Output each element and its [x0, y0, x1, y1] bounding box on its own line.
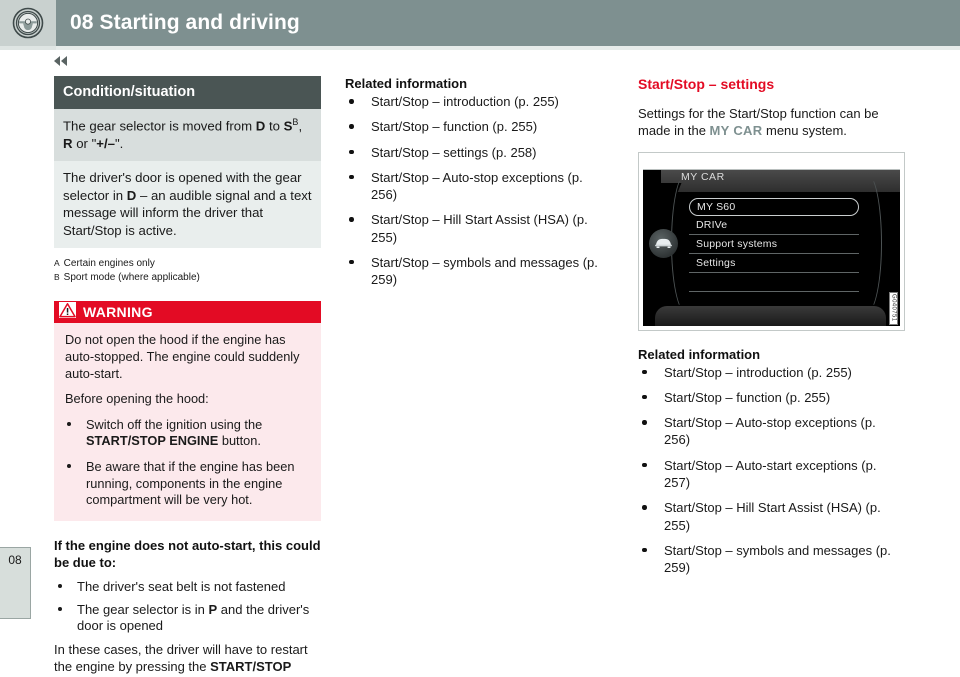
mycar-menu-list: MY S60DRIVeSupport systemsSettings: [689, 198, 859, 311]
warning-body: Do not open the hood if the engine has a…: [54, 323, 321, 521]
screen-bottom-bar: [655, 306, 886, 326]
list-item-text: Start/Stop – introduction (p. 255): [371, 94, 559, 109]
header-divider-right: [56, 46, 960, 50]
table-cell-condition-2: The driver's door is opened with the gea…: [54, 161, 321, 248]
mycar-menu-item[interactable]: MY S60: [689, 198, 859, 216]
list-item-text: Start/Stop – introduction (p. 255): [664, 365, 852, 380]
footnotes: A Certain engines only B Sport mode (whe…: [54, 257, 321, 285]
related-information-heading: Related information: [638, 347, 905, 362]
footnote-text: Certain engines only: [64, 257, 155, 271]
related-information-list: Start/Stop – introduction (p. 255)Start/…: [638, 364, 905, 577]
bullet-icon: [67, 464, 71, 468]
list-item-text: Start/Stop – symbols and messages (p. 25…: [664, 543, 891, 575]
list-item-text: Start/Stop – Hill Start Assist (HSA) (p.…: [664, 500, 881, 532]
table-cell-condition-1: The gear selector is moved from D to SB,…: [54, 109, 321, 161]
bullet-icon: [642, 505, 647, 510]
related-information-heading: Related information: [345, 76, 612, 91]
list-item: Start/Stop – function (p. 255): [638, 389, 905, 406]
list-item-text: The gear selector is in P and the driver…: [77, 602, 309, 634]
footnote-mark: A: [54, 257, 60, 271]
warning-label: WARNING: [83, 304, 153, 320]
section-heading: Start/Stop – settings: [638, 76, 905, 92]
bullet-icon: [642, 420, 647, 425]
warning-triangle-icon: [59, 302, 76, 323]
footnote-item: B Sport mode (where applicable): [54, 271, 321, 285]
list-item: Start/Stop – symbols and messages (p. 25…: [638, 542, 905, 577]
list-item: Start/Stop – introduction (p. 255): [638, 364, 905, 381]
bullet-icon: [58, 584, 62, 588]
mycar-menu-item[interactable]: Support systems: [689, 235, 859, 254]
list-item: Start/Stop – Hill Start Assist (HSA) (p.…: [638, 499, 905, 534]
bullet-icon: [642, 548, 647, 553]
footnote-mark: B: [54, 271, 60, 285]
no-autostart-block: If the engine does not auto-start, this …: [54, 538, 321, 677]
manual-page: 08 Starting and driving 08 Condition/sit…: [0, 0, 960, 677]
table-header-cell: Condition/situation: [54, 76, 321, 109]
mycar-menu-item[interactable]: DRIVe: [689, 216, 859, 235]
list-item: Start/Stop – introduction (p. 255): [345, 93, 612, 110]
list-item: Start/Stop – Auto-stop exceptions (p. 25…: [345, 169, 612, 204]
double-left-arrow-icon[interactable]: [54, 56, 67, 66]
warning-header: WARNING: [54, 301, 321, 323]
bullet-icon: [642, 370, 647, 375]
table-header-row: Condition/situation: [54, 76, 321, 109]
list-item-text: Start/Stop – Auto-stop exceptions (p. 25…: [664, 415, 876, 447]
screen-top-bar: [643, 157, 900, 170]
infotainment-screen: MY CAR MY S60DRIVeSupport systemsSetting…: [643, 157, 900, 326]
warning-bullet-list: Switch off the ignition using the START/…: [65, 417, 310, 509]
bullet-icon: [349, 124, 354, 129]
list-item: Start/Stop – function (p. 255): [345, 118, 612, 135]
warning-paragraph: Before opening the hood:: [65, 391, 310, 408]
chapter-tab: 08: [0, 547, 31, 619]
list-item-text: Start/Stop – function (p. 255): [664, 390, 830, 405]
list-item: The gear selector is in P and the driver…: [54, 602, 321, 636]
table-row: The driver's door is opened with the gea…: [54, 161, 321, 248]
bullet-icon: [67, 422, 71, 426]
car-front-icon: [649, 229, 678, 258]
bullet-icon: [349, 175, 354, 180]
list-item-text: The driver's seat belt is not fastened: [77, 579, 285, 594]
list-item-text: Start/Stop – function (p. 255): [371, 119, 537, 134]
warning-box: WARNING Do not open the hood if the engi…: [54, 301, 321, 521]
list-item: Be aware that if the engine has been run…: [65, 459, 310, 509]
list-item: Start/Stop – symbols and messages (p. 25…: [345, 254, 612, 289]
left-column: Condition/situation The gear selector is…: [54, 76, 321, 677]
page-header: 08 Starting and driving: [0, 0, 960, 46]
list-item: Start/Stop – Hill Start Assist (HSA) (p.…: [345, 211, 612, 246]
list-item: Start/Stop – Auto-start exceptions (p. 2…: [638, 457, 905, 492]
bullet-icon: [58, 607, 62, 611]
section-paragraph: Settings for the Start/Stop function can…: [638, 105, 905, 140]
list-item: Start/Stop – settings (p. 258): [345, 144, 612, 161]
block-paragraph: In these cases, the driver will have to …: [54, 642, 321, 677]
mycar-display-figure: MY CAR MY S60DRIVeSupport systemsSetting…: [638, 152, 905, 331]
chapter-tab-label: 08: [8, 553, 21, 567]
mycar-menu-item[interactable]: Settings: [689, 254, 859, 273]
bullet-icon: [349, 217, 354, 222]
table-row: The gear selector is moved from D to SB,…: [54, 109, 321, 161]
bullet-icon: [349, 260, 354, 265]
volvo-steering-wheel-icon: [12, 7, 44, 39]
list-item: The driver's seat belt is not fastened: [54, 579, 321, 596]
header-band: 08 Starting and driving: [56, 0, 960, 46]
bullet-icon: [642, 395, 647, 400]
list-item-text: Be aware that if the engine has been run…: [86, 459, 294, 507]
figure-id-tag: G040751: [889, 292, 898, 325]
mycar-menu-item[interactable]: [689, 273, 859, 292]
list-item-text: Start/Stop – Hill Start Assist (HSA) (p.…: [371, 212, 588, 244]
page-title: 08 Starting and driving: [70, 11, 300, 35]
block-heading: If the engine does not auto-start, this …: [54, 538, 321, 572]
list-item-text: Start/Stop – settings (p. 258): [371, 145, 536, 160]
middle-column: Related information Start/Stop – introdu…: [345, 76, 612, 297]
bullet-icon: [642, 463, 647, 468]
list-item: Switch off the ignition using the START/…: [65, 417, 310, 450]
right-related-information: Related information Start/Stop – introdu…: [638, 347, 905, 577]
right-column: Start/Stop – settings Settings for the S…: [638, 76, 905, 584]
related-information-list: Start/Stop – introduction (p. 255)Start/…: [345, 93, 612, 289]
footnote-item: A Certain engines only: [54, 257, 321, 271]
footnote-text: Sport mode (where applicable): [64, 271, 200, 285]
warning-paragraph: Do not open the hood if the engine has a…: [65, 332, 310, 382]
list-item-text: Start/Stop – Auto-stop exceptions (p. 25…: [371, 170, 583, 202]
block-bullet-list: The driver's seat belt is not fastened T…: [54, 579, 321, 636]
list-item-text: Switch off the ignition using the START/…: [86, 417, 262, 449]
bullet-icon: [349, 99, 354, 104]
list-item-text: Start/Stop – Auto-start exceptions (p. 2…: [664, 458, 876, 490]
condition-situation-table: Condition/situation The gear selector is…: [54, 76, 321, 248]
logo-cell: [0, 0, 56, 46]
list-item: Start/Stop – Auto-stop exceptions (p. 25…: [638, 414, 905, 449]
list-item-text: Start/Stop – symbols and messages (p. 25…: [371, 255, 598, 287]
bullet-icon: [349, 150, 354, 155]
